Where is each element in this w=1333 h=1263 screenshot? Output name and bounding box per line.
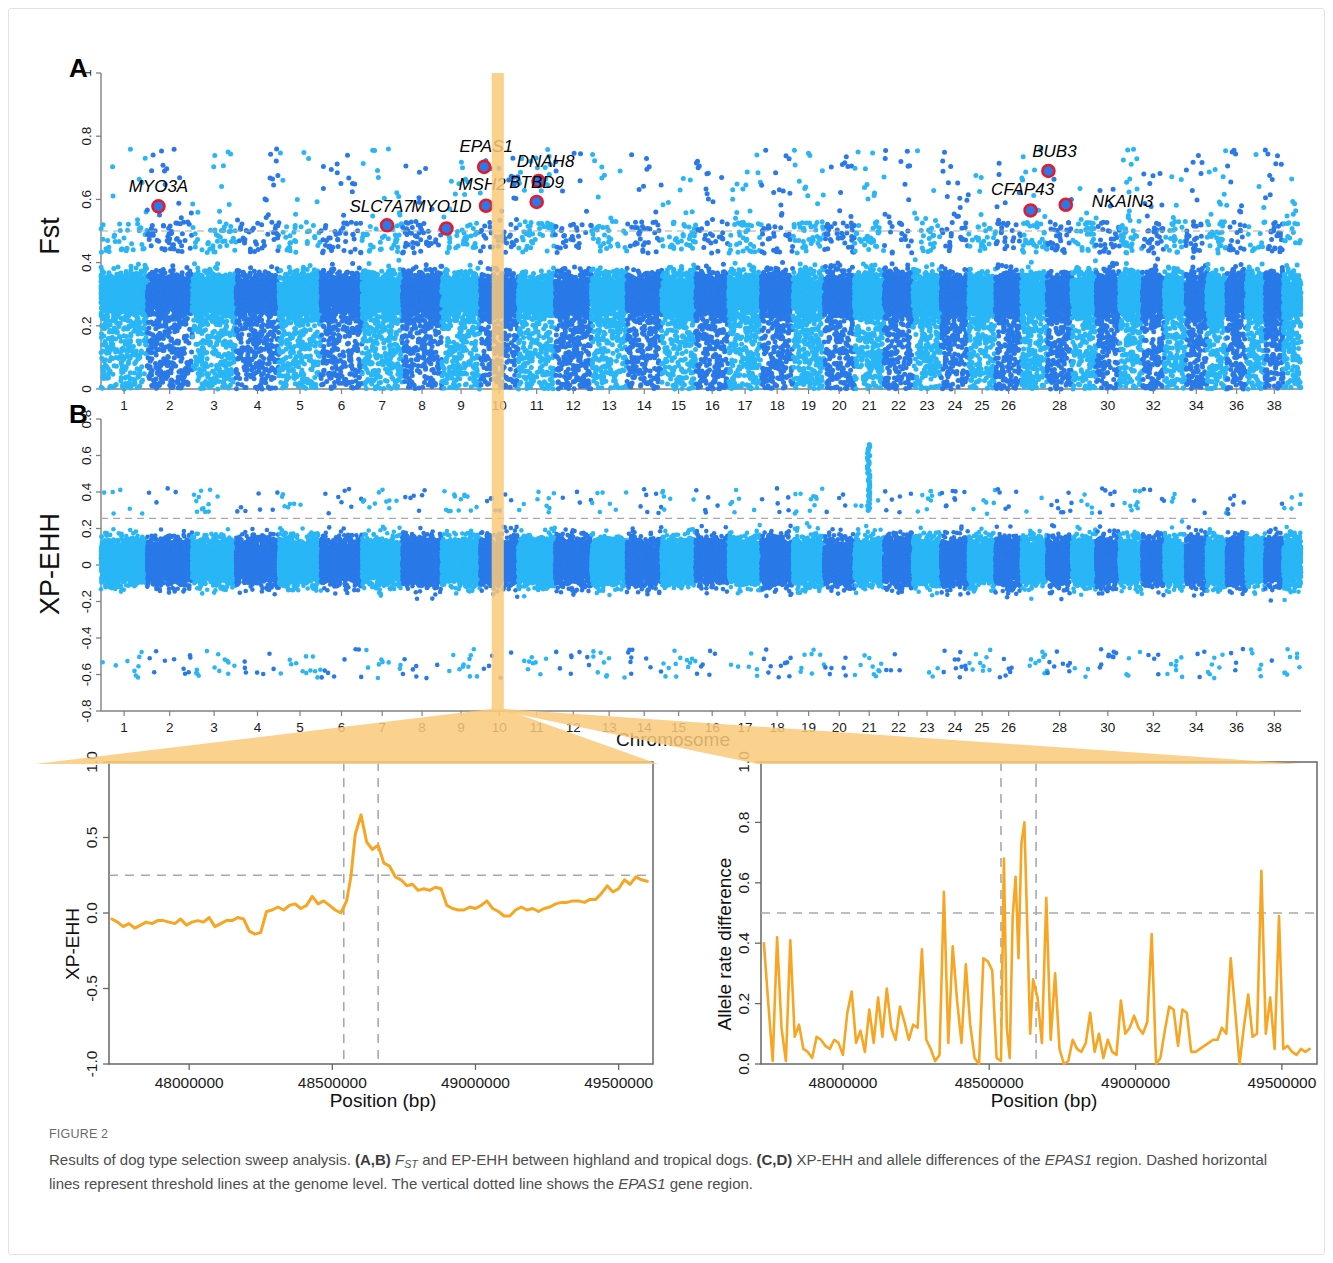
gene-label: CFAP43 [991,180,1055,199]
panel-c-ylabel: XP-EHH [62,908,83,980]
panel-a-xtick: 2 [166,398,174,413]
panel-a-ytick: 0 [79,385,94,393]
caption-part-2: and EP-EHH between highland and tropical… [418,1151,757,1168]
figure-caption-text: Results of dog type selection sweep anal… [49,1148,1294,1196]
panel-d-ylabel: Allele rate difference [714,858,735,1031]
panel-d-xlabel: Position (bp) [991,1090,1098,1111]
gene-marker [531,196,543,208]
panel-a-xtick: 8 [418,398,426,413]
caption-part-5: gene region. [665,1175,753,1192]
d-group-xtick: 49500000 [1247,1074,1316,1091]
panel-c-xlabel: Position (bp) [330,1090,437,1111]
caption-cd-tag: (C,D) [757,1151,793,1168]
c-group-xtick: 48500000 [298,1074,367,1091]
panel-a-xtick: 4 [254,398,262,413]
panel-a-xtick: 12 [566,398,581,413]
panel-a-xtick: 13 [602,398,617,413]
panel-a-xtick: 24 [947,398,963,413]
panel-a-ytick: 0.2 [79,316,94,335]
panel-a-xtick: 32 [1146,398,1161,413]
manhattan-panels: A Fst 00.20.40.60.8112345678910111213141… [13,11,1313,751]
panel-b-ytick: 0.6 [79,446,94,465]
caption-epas1-2: EPAS1 [618,1175,665,1192]
figure-label: FIGURE 2 [49,1127,1294,1141]
panel-a-xtick: 21 [862,398,877,413]
d-group-xtick: 48000000 [808,1074,877,1091]
figure-caption: FIGURE 2 Results of dog type selection s… [49,1127,1294,1196]
panel-a-xtick: 1 [120,398,128,413]
c-group-xtick: 48000000 [155,1074,224,1091]
panel-a-plot: 00.20.40.60.8112345678910111213141516171… [79,69,1304,413]
gene-marker [381,219,393,231]
fst-symbol: FST [395,1151,418,1168]
gene-marker [478,161,490,173]
c-group-xtick: 49500000 [584,1074,653,1091]
c-group-xtick: 49000000 [441,1074,510,1091]
gene-label: NKAIN3 [1092,192,1154,211]
zoom-funnels [13,709,1313,829]
gene-marker [480,200,492,212]
panel-b-ytick: 0.8 [79,410,94,429]
gene-label: DNAH8 [517,152,575,171]
gene-label: BTBD9 [509,173,564,192]
panel-a-xtick: 26 [1001,398,1016,413]
d-group-ytick: 0.2 [735,993,752,1015]
panel-a-xtick: 25 [975,398,990,413]
panel-a-xtick: 11 [530,398,544,413]
panel-a-ytick: 1 [79,69,94,77]
panel-a-xtick: 36 [1229,398,1244,413]
panel-a-xtick: 30 [1100,398,1115,413]
d-group-ytick: 0.6 [735,872,752,894]
panel-a-xtick: 9 [457,398,465,413]
d-group-xtick: 49000000 [1101,1074,1170,1091]
d-group-ytick: 0.4 [735,932,752,954]
panel-b-ylabel: XP-EHH [35,513,65,615]
panel-a-ytick: 0.6 [79,190,94,209]
panel-b-ytick: 0 [79,561,94,569]
figure-page: A Fst 00.20.40.60.8112345678910111213141… [0,0,1333,1263]
panel-a-xtick: 34 [1189,398,1205,413]
panel-b-ytick: -0.4 [79,626,94,650]
panel-a-xtick: 17 [738,398,753,413]
panel-a-xtick: 3 [210,398,218,413]
gene-marker [1060,199,1072,211]
gene-label: MYO3A [129,177,189,196]
panel-a-xtick: 14 [637,398,653,413]
panel-a-xtick: 15 [671,398,686,413]
panel-a-letter: A [69,53,88,83]
gene-marker [440,222,452,234]
caption-part-1: Results of dog type selection sweep anal… [49,1151,355,1168]
panel-a-xtick: 6 [338,398,346,413]
caption-epas1-1: EPAS1 [1045,1151,1092,1168]
d-group-ytick: 0.0 [735,1053,752,1075]
panel-a-ylabel: Fst [35,217,65,255]
epas1-band [492,73,504,711]
panel-a-xtick: 18 [770,398,785,413]
panel-a-ytick: 0.8 [79,127,94,146]
gene-label: BUB3 [1032,142,1077,161]
gene-label: SLC7A7 [349,197,413,216]
caption-ab-tag: (A,B) [355,1151,391,1168]
panel-a-xtick: 23 [920,398,935,413]
gene-label: EPAS1 [459,137,513,156]
c-group-ytick: 0.5 [83,827,100,849]
epas1-highlight-band [492,73,504,711]
panel-a-xtick: 5 [296,398,304,413]
d-group-xtick: 48500000 [955,1074,1024,1091]
figure-card: A Fst 00.20.40.60.8112345678910111213141… [8,8,1325,1255]
panel-a-xtick: 22 [891,398,906,413]
gene-marker [1025,204,1037,216]
caption-part-3: XP-EHH and allele differences of the [792,1151,1044,1168]
gene-marker [152,200,164,212]
panel-a-xtick: 20 [832,398,847,413]
panel-b-ytick: -0.2 [79,590,94,613]
panel-b-ytick: -0.6 [79,663,94,686]
c-group-ytick: 0.0 [83,902,100,924]
panel-a-xtick: 19 [801,398,816,413]
panel-a-xtick: 38 [1267,398,1282,413]
panel-b-ytick: 0.4 [79,482,94,501]
panel-b-ytick: 0.2 [79,519,94,538]
panel-a-xtick: 7 [378,398,386,413]
panel-a-xtick: 28 [1052,398,1067,413]
c-group-ytick: -1.0 [83,1050,100,1077]
gene-marker [1042,165,1054,177]
gene-label: MYO1D [411,197,471,216]
panel-a-ytick: 0.4 [79,253,94,272]
panel-b-plot: -0.8-0.6-0.4-0.200.20.40.60.812345678910… [79,410,1303,735]
c-group-ytick: -0.5 [83,975,100,1002]
panel-a-xtick: 16 [705,398,720,413]
